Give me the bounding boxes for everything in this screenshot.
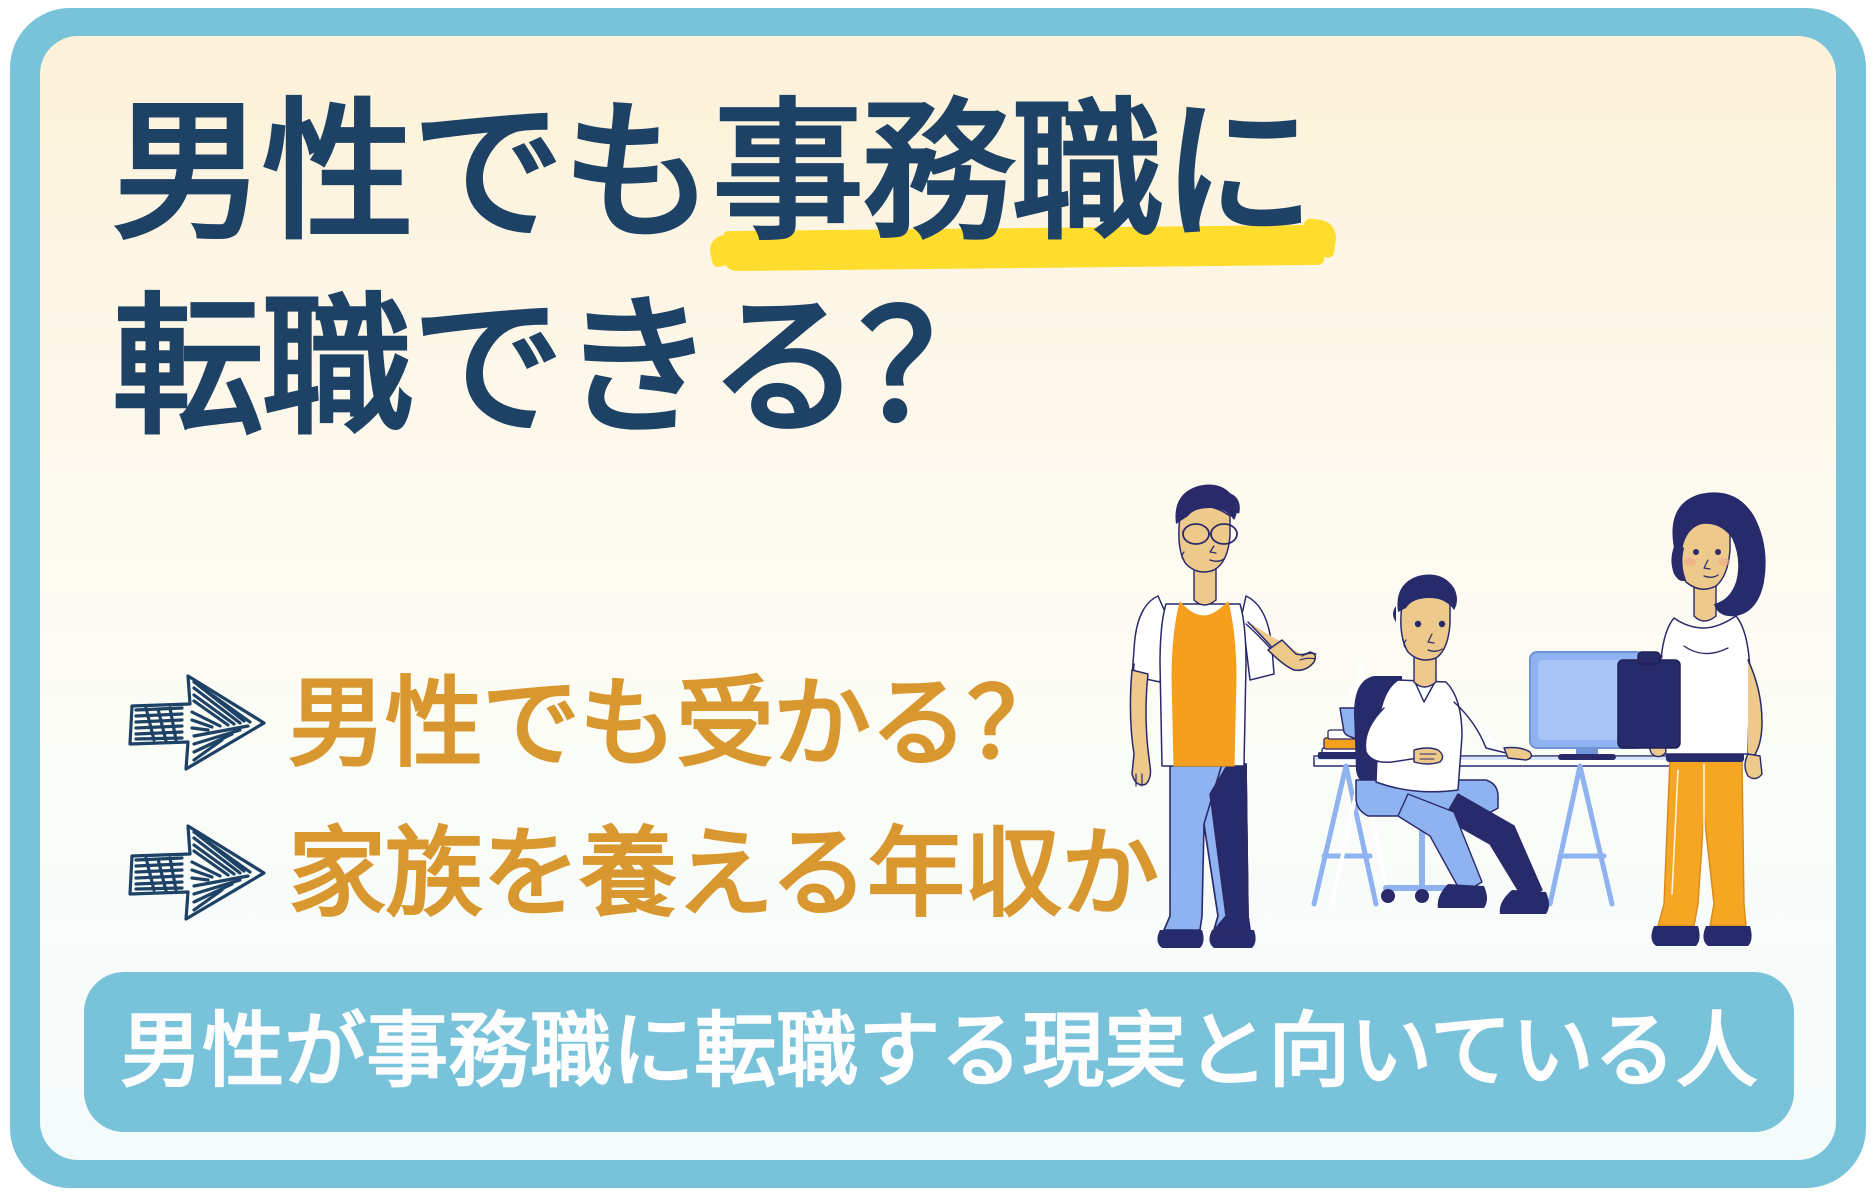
title-line-2-text: 転職できる？: [112, 283, 1009, 453]
title-line-2: 転職できる？: [112, 271, 1752, 466]
standing-woman-with-clipboard: [1618, 492, 1766, 946]
title-line-1: 男性でも事務職に: [112, 76, 1752, 271]
inner-cream-panel: 男性でも事務職に 転職できる？: [40, 36, 1836, 1160]
sketch-arrow-right-icon: [124, 818, 272, 928]
banner-root: 男性でも事務職に 転職できる？: [0, 0, 1876, 1195]
standing-man-with-glasses: [1130, 485, 1316, 949]
bullet-label: 家族を養える年収か: [288, 824, 1158, 922]
sketch-arrow-right-icon: [124, 668, 272, 778]
bullet-label: 男性でも受かる？: [288, 674, 1064, 772]
title-line-1-text: 男性でも事務職に: [112, 88, 1312, 258]
bottom-subtitle-bar: 男性が事務職に転職する現実と向いている人: [84, 972, 1794, 1132]
bottom-bar-text: 男性が事務職に転職する現実と向いている人: [120, 1011, 1758, 1093]
office-team-illustration: [1118, 464, 1818, 964]
page-title: 男性でも事務職に 転職できる？: [112, 76, 1752, 465]
